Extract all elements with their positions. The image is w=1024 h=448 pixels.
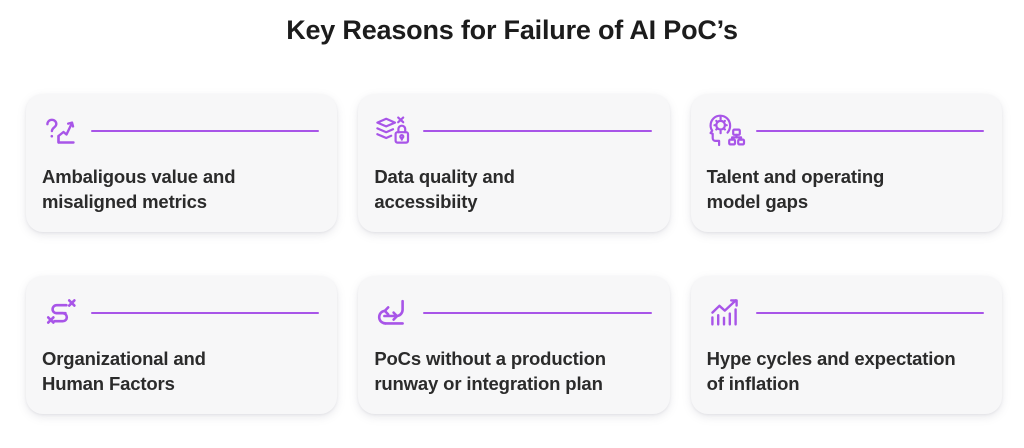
- reasons-card-grid: Ambaligous value and misaligned metrics: [26, 94, 1002, 414]
- card-text-4: Organizational and Human Factors: [42, 346, 321, 396]
- accent-rule-3: [756, 130, 984, 133]
- card-text-3: Talent and operating model gaps: [707, 164, 986, 214]
- accent-rule-4: [91, 312, 319, 315]
- head-gear-org-chart-icon: [707, 111, 747, 151]
- card-header-6: [707, 293, 986, 333]
- reason-card-3[interactable]: Talent and operating model gaps: [691, 94, 1002, 232]
- card-text-line-1: Organizational and: [42, 346, 321, 371]
- accent-rule-1: [91, 130, 319, 133]
- card-text-line-1: Hype cycles and expectation: [707, 346, 986, 371]
- reason-card-1[interactable]: Ambaligous value and misaligned metrics: [26, 94, 337, 232]
- card-text-line-2: accessibiity: [374, 189, 653, 214]
- reason-card-6[interactable]: Hype cycles and expectation of inflation: [691, 276, 1002, 414]
- s-path-with-crosses-icon: [42, 293, 82, 333]
- question-mark-growth-arrow-icon: [42, 111, 82, 151]
- accent-rule-2: [423, 130, 651, 133]
- card-text-line-1: PoCs without a production: [374, 346, 653, 371]
- layers-lock-icon: [374, 111, 414, 151]
- slide-canvas: Key Reasons for Failure of AI PoC’s Amba…: [0, 0, 1024, 448]
- card-text-line-1: Data quality and: [374, 164, 653, 189]
- reason-card-5[interactable]: PoCs without a production runway or inte…: [358, 276, 669, 414]
- card-text-1: Ambaligous value and misaligned metrics: [42, 164, 321, 214]
- card-header-1: [42, 111, 321, 151]
- accent-rule-5: [423, 312, 651, 315]
- card-header-3: [707, 111, 986, 151]
- accent-rule-6: [756, 312, 984, 315]
- card-text-line-2: runway or integration plan: [374, 371, 653, 396]
- card-text-line-2: Human Factors: [42, 371, 321, 396]
- reason-card-2[interactable]: Data quality and accessibiity: [358, 94, 669, 232]
- card-text-2: Data quality and accessibiity: [374, 164, 653, 214]
- card-header-2: [374, 111, 653, 151]
- card-text-5: PoCs without a production runway or inte…: [374, 346, 653, 396]
- card-text-line-2: of inflation: [707, 371, 986, 396]
- card-text-line-2: model gaps: [707, 189, 986, 214]
- card-text-line-1: Talent and operating: [707, 164, 986, 189]
- page-title: Key Reasons for Failure of AI PoC’s: [0, 0, 1024, 47]
- bar-chart-rising-arrow-icon: [707, 293, 747, 333]
- card-header-5: [374, 293, 653, 333]
- reason-card-4[interactable]: Organizational and Human Factors: [26, 276, 337, 414]
- card-header-4: [42, 293, 321, 333]
- card-text-line-2: misaligned metrics: [42, 189, 321, 214]
- card-text-line-1: Ambaligous value and: [42, 164, 321, 189]
- card-text-6: Hype cycles and expectation of inflation: [707, 346, 986, 396]
- loop-cycle-arrows-icon: [374, 293, 414, 333]
